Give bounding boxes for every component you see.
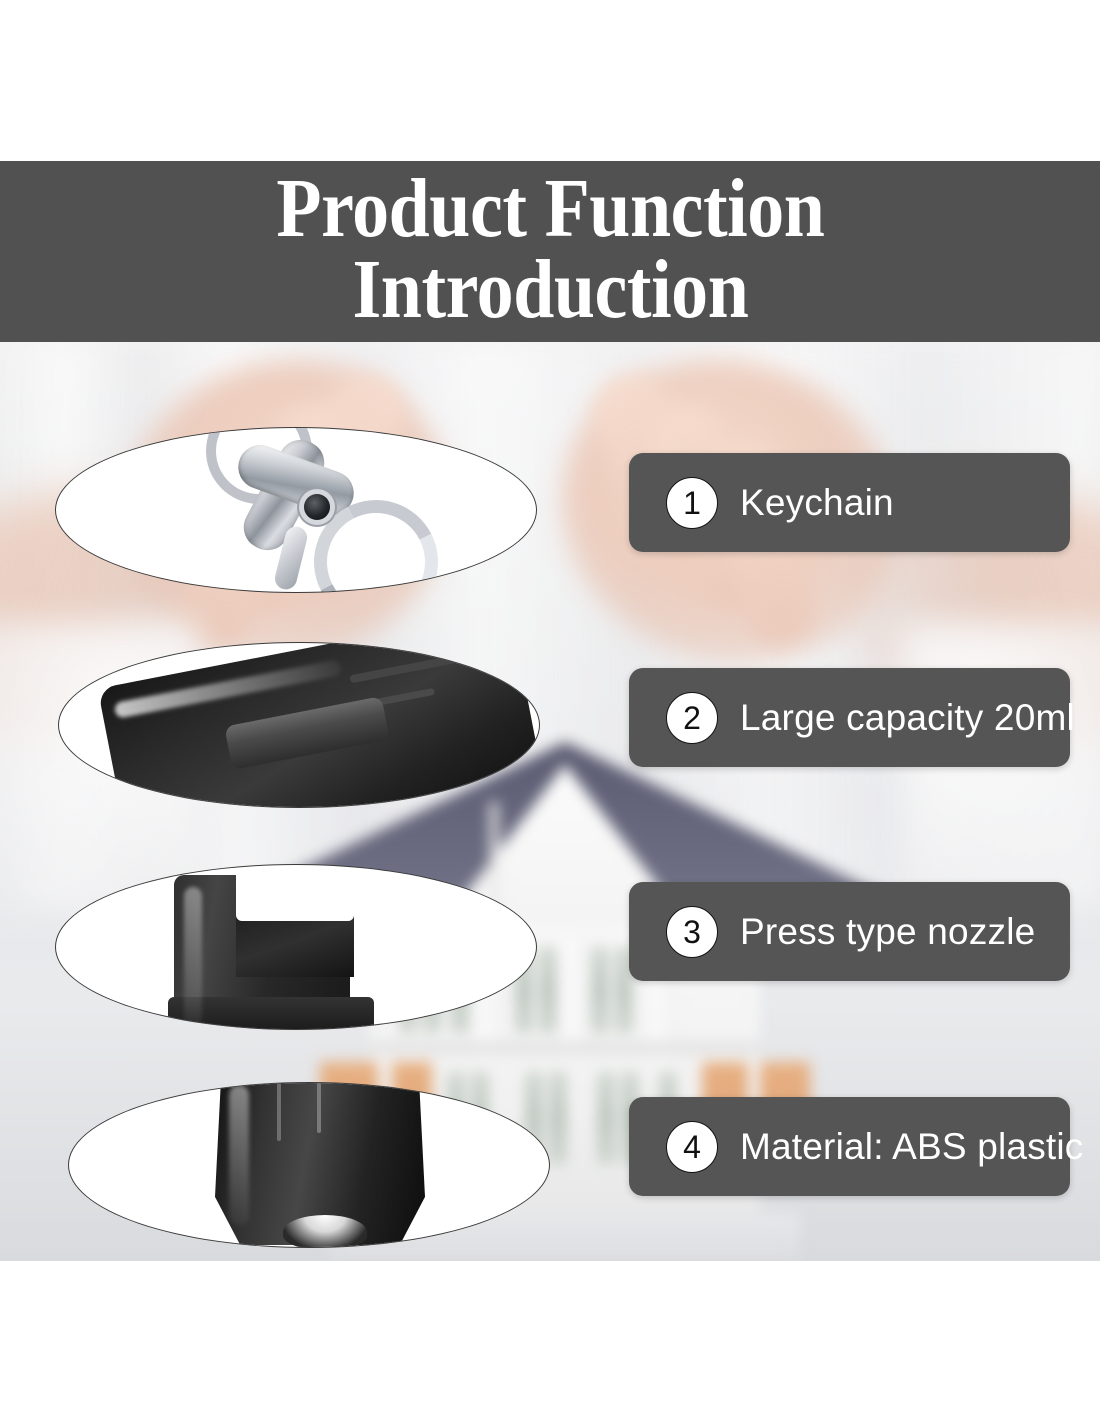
press-nozzle-icon [56,865,536,1029]
bottle-bottom-slit [317,1083,321,1133]
bottle-bottom-icon [69,1083,549,1247]
house-window [592,947,608,1033]
nozzle-notch [236,873,354,921]
feature-label-4: Material: ABS plastic [740,1126,1084,1168]
feature-number-badge-1: 1 [666,477,718,529]
feature-label-2: Large capacity 20ml [740,697,1075,739]
feature-number-badge-4: 4 [666,1121,718,1173]
header-band: Product Function Introduction [0,161,1100,342]
callout-oval-material [68,1082,550,1248]
bottle-body-icon [59,643,539,807]
bottle-bottom-slit [277,1083,281,1141]
feature-label-1: Keychain [740,482,894,524]
product-infographic: Product Function Introduction [0,0,1100,1422]
feature-bar-2[interactable]: 2 Large capacity 20ml [629,668,1070,767]
house-window [540,947,556,1033]
right-sleeve [900,622,1100,922]
bottle-bottom-highlight [229,1085,249,1225]
callout-oval-capacity [58,642,540,808]
keychain-clasp-icon [56,428,536,592]
feature-number-badge-2: 2 [666,692,718,744]
feature-number-badge-3: 3 [666,906,718,958]
nozzle-highlight [184,887,202,1027]
house-floor-divider [370,1042,760,1054]
page-title: Product Function Introduction [258,169,841,330]
feature-label-3: Press type nozzle [740,911,1035,953]
house-window [550,1072,566,1164]
house-window [598,1072,614,1164]
feature-bar-3[interactable]: 3 Press type nozzle [629,882,1070,981]
bottle-bottom-notch [283,1215,367,1248]
clasp-pivot-screw [304,494,330,520]
house-column [566,937,588,1057]
callout-oval-nozzle [55,864,537,1030]
callout-oval-keychain [55,427,537,593]
feature-bar-4[interactable]: 4 Material: ABS plastic [629,1097,1070,1196]
feature-bar-1[interactable]: 1 Keychain [629,453,1070,552]
